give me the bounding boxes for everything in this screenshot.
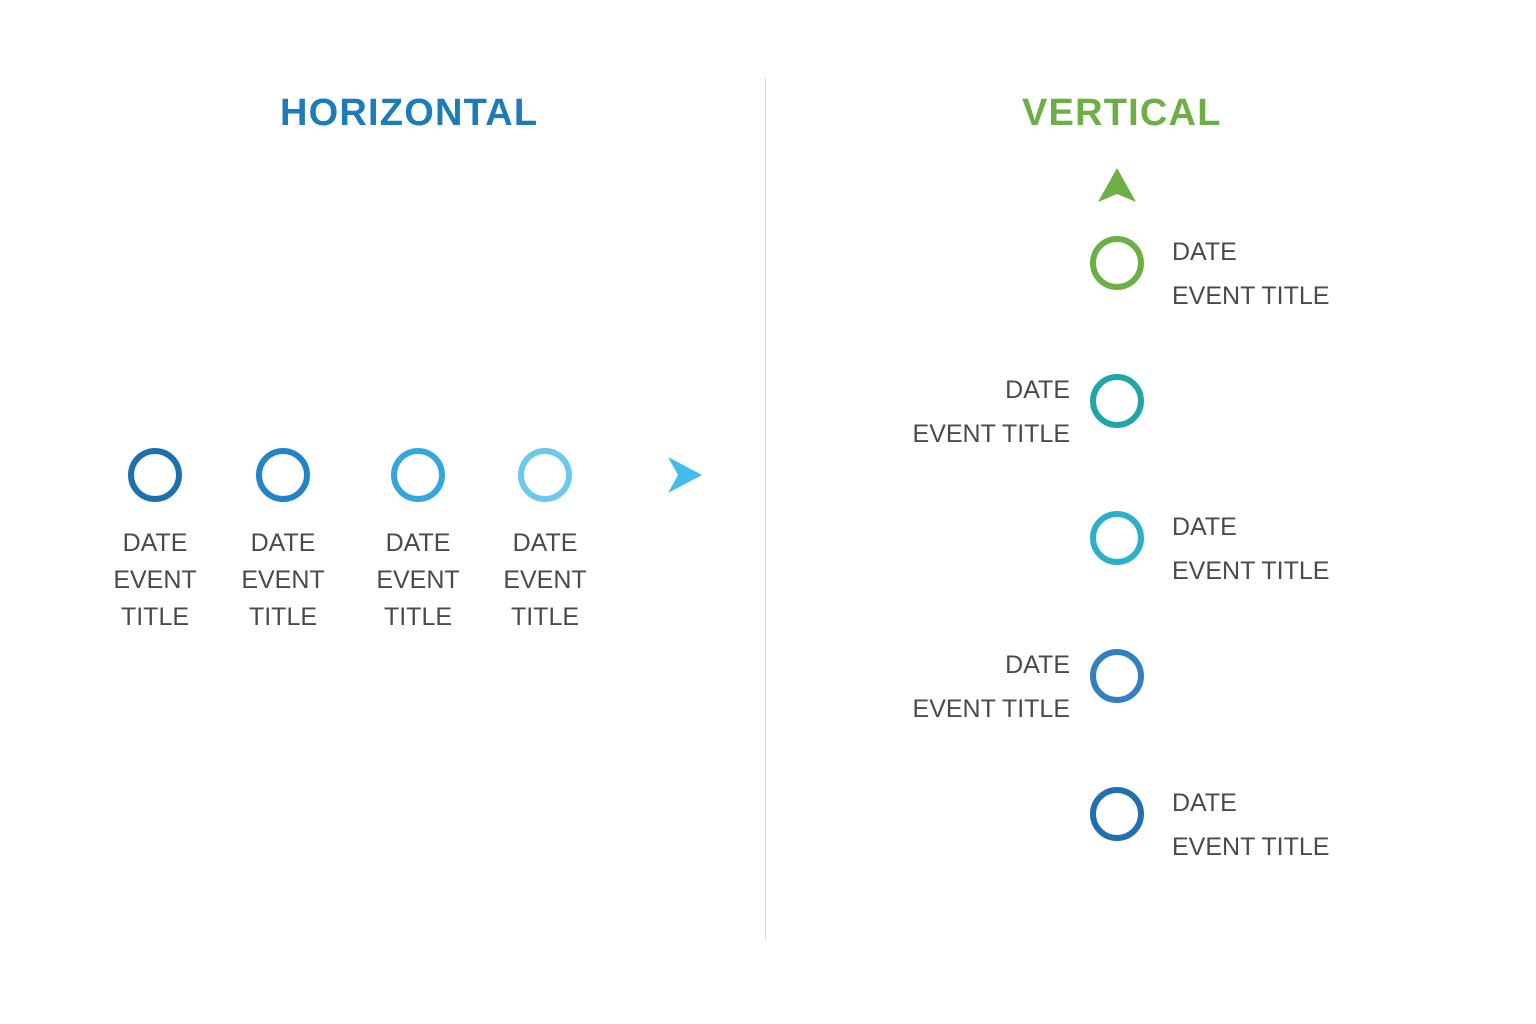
vertical-label-date: DATE [1172,230,1329,274]
panel-divider [765,78,766,940]
vertical-milestone-node[interactable] [1093,514,1141,562]
horizontal-panel-title: HORIZONTAL [280,92,538,135]
vertical-label-group: DATE EVENT TITLE [1172,505,1329,593]
vertical-label-title: EVENT TITLE [913,412,1070,456]
vertical-label-title: EVENT TITLE [1172,274,1329,318]
vertical-milestone-node[interactable] [1093,377,1141,425]
vertical-milestone-node[interactable] [1093,790,1141,838]
horizontal-label-title-line2: TITLE [465,599,625,636]
horizontal-milestone-node[interactable] [521,451,569,499]
horizontal-milestone-node[interactable] [394,451,442,499]
horizontal-label-group: DATE EVENT TITLE [465,525,625,636]
vertical-label-date: DATE [1172,781,1329,825]
vertical-label-date: DATE [913,368,1070,412]
horizontal-timeline-graphic [80,430,730,530]
vertical-label-title: EVENT TITLE [1172,825,1329,869]
vertical-milestone-node[interactable] [1093,652,1141,700]
horizontal-arrow-head-icon [668,457,702,493]
vertical-label-date: DATE [1172,505,1329,549]
horizontal-milestone-node[interactable] [259,451,307,499]
timeline-diagram-canvas: HORIZONTAL DATE EVENT TITLE DATE EVENT [0,0,1536,1024]
vertical-label-group: DATE EVENT TITLE [1172,781,1329,869]
vertical-label-group: DATE EVENT TITLE [1172,230,1329,318]
vertical-label-group: DATE EVENT TITLE [913,643,1070,731]
vertical-label-title: EVENT TITLE [913,687,1070,731]
vertical-label-group: DATE EVENT TITLE [913,368,1070,456]
vertical-milestone-node[interactable] [1093,239,1141,287]
horizontal-milestone-node[interactable] [131,451,179,499]
vertical-label-date: DATE [913,643,1070,687]
vertical-panel-title: VERTICAL [1022,92,1222,135]
horizontal-label-title-line1: EVENT [465,562,625,599]
horizontal-label-date: DATE [465,525,625,562]
vertical-label-title: EVENT TITLE [1172,549,1329,593]
